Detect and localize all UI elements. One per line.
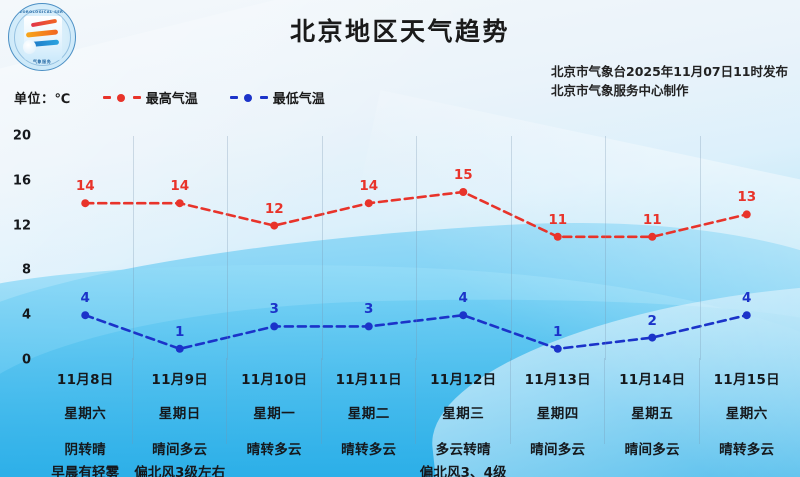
y-axis: 048121620 <box>0 130 38 362</box>
data-point-label: 3 <box>364 301 373 317</box>
chart-legend: 单位：℃ 最高气温 最低气温 <box>14 88 325 106</box>
data-point-label: 12 <box>265 201 284 217</box>
data-point-marker <box>270 222 278 230</box>
day-column-1: 11月8日星期六阴转晴早晨有轻雾 <box>38 360 133 460</box>
day-date: 11月11日 <box>322 368 417 388</box>
day-column-3: 11月10日星期一晴转多云 <box>227 360 322 460</box>
weather-trend-infographic: METEOROLOGICAL SERVICE 气象服务 北京地区天气趋势 北京市… <box>0 0 800 477</box>
day-weekday: 星期一 <box>227 402 322 422</box>
day-column-8: 11月15日星期六晴转多云 <box>700 360 795 460</box>
unit-label: 单位：℃ <box>14 88 71 107</box>
day-columns: 11月8日星期六阴转晴早晨有轻雾11月9日星期日晴间多云偏北风3级左右11月10… <box>38 360 794 460</box>
data-point-marker <box>459 188 467 196</box>
grid-line-vertical <box>605 136 606 360</box>
grid-line-vertical <box>700 136 701 360</box>
day-column-5: 11月12日星期三多云转晴偏北风3、4级 <box>416 360 511 460</box>
day-date: 11月8日 <box>38 368 133 388</box>
data-point-marker <box>81 199 89 207</box>
data-point-label: 4 <box>459 290 468 306</box>
day-date: 11月10日 <box>227 368 322 388</box>
data-point-label: 13 <box>737 189 756 205</box>
data-point-marker <box>648 334 656 342</box>
grid-line-vertical <box>133 136 134 360</box>
legend-marker-high-icon <box>103 92 141 102</box>
page-title: 北京地区天气趋势 <box>0 12 800 48</box>
day-wind-note: 偏北风3、4级 <box>416 461 511 477</box>
grid-line-vertical <box>322 136 323 360</box>
data-point-label: 2 <box>648 313 657 329</box>
data-point-label: 4 <box>742 290 751 306</box>
day-sky-condition: 晴间多云 <box>605 438 700 458</box>
legend-item-high-temp: 最高气温 <box>103 88 198 107</box>
day-column-2: 11月9日星期日晴间多云偏北风3级左右 <box>133 360 228 460</box>
day-sky-condition: 晴转多云 <box>700 438 795 458</box>
legend-label-low: 最低气温 <box>273 88 325 107</box>
data-point-marker <box>176 199 184 207</box>
day-weekday: 星期二 <box>322 402 417 422</box>
day-weekday: 星期六 <box>700 402 795 422</box>
day-weekday: 星期六 <box>38 402 133 422</box>
data-point-label: 11 <box>643 212 662 228</box>
data-point-marker <box>554 233 562 241</box>
grid-line-vertical <box>227 136 228 360</box>
day-weekday: 星期四 <box>511 402 606 422</box>
day-sky-condition: 晴间多云 <box>511 438 606 458</box>
day-date: 11月14日 <box>605 368 700 388</box>
grid-line-vertical <box>511 136 512 360</box>
day-wind-note: 早晨有轻雾 <box>38 461 133 477</box>
data-point-marker <box>743 311 751 319</box>
y-axis-tick-0: 0 <box>22 353 31 368</box>
legend-item-low-temp: 最低气温 <box>230 88 325 107</box>
grid-line-vertical <box>416 136 417 360</box>
day-sky-condition: 晴间多云 <box>133 438 228 458</box>
publisher-issue-line: 北京市气象台2025年11月07日11时发布 <box>551 62 788 81</box>
data-point-label: 1 <box>553 324 562 340</box>
day-column-6: 11月13日星期四晴间多云 <box>511 360 606 460</box>
data-point-label: 11 <box>548 212 567 228</box>
data-point-marker <box>365 199 373 207</box>
day-date: 11月15日 <box>700 368 795 388</box>
legend-marker-low-icon <box>230 92 268 102</box>
logo-text-bottom: 气象服务 <box>9 59 75 65</box>
day-sky-condition: 晴转多云 <box>322 438 417 458</box>
day-date: 11月9日 <box>133 368 228 388</box>
temperature-chart-plot: 141412141511111341334124 <box>38 136 794 360</box>
publisher-producer-line: 北京市气象服务中心制作 <box>551 81 788 100</box>
data-point-marker <box>648 233 656 241</box>
data-point-label: 14 <box>170 178 189 194</box>
day-sky-condition: 多云转晴 <box>416 438 511 458</box>
data-point-marker <box>459 311 467 319</box>
data-point-label: 14 <box>76 178 95 194</box>
y-axis-tick-16: 16 <box>13 173 31 188</box>
legend-label-high: 最高气温 <box>146 88 198 107</box>
y-axis-tick-8: 8 <box>22 263 31 278</box>
data-point-marker <box>176 345 184 353</box>
data-point-marker <box>743 210 751 218</box>
data-point-label: 3 <box>270 301 279 317</box>
publisher-info: 北京市气象台2025年11月07日11时发布 北京市气象服务中心制作 <box>551 62 788 101</box>
data-point-marker <box>270 322 278 330</box>
day-weekday: 星期五 <box>605 402 700 422</box>
day-column-4: 11月11日星期二晴转多云 <box>322 360 417 460</box>
day-weekday: 星期日 <box>133 402 228 422</box>
day-date: 11月12日 <box>416 368 511 388</box>
day-date: 11月13日 <box>511 368 606 388</box>
y-axis-tick-20: 20 <box>13 129 31 144</box>
day-wind-note: 偏北风3级左右 <box>133 461 228 477</box>
data-point-label: 15 <box>454 167 473 183</box>
data-point-label: 14 <box>359 178 378 194</box>
data-point-marker <box>365 322 373 330</box>
y-axis-tick-4: 4 <box>22 308 31 323</box>
day-column-7: 11月14日星期五晴间多云 <box>605 360 700 460</box>
data-point-marker <box>81 311 89 319</box>
y-axis-tick-12: 12 <box>13 218 31 233</box>
day-sky-condition: 晴转多云 <box>227 438 322 458</box>
data-point-marker <box>554 345 562 353</box>
data-point-label: 4 <box>81 290 90 306</box>
day-weekday: 星期三 <box>416 402 511 422</box>
data-point-label: 1 <box>175 324 184 340</box>
day-sky-condition: 阴转晴 <box>38 438 133 458</box>
